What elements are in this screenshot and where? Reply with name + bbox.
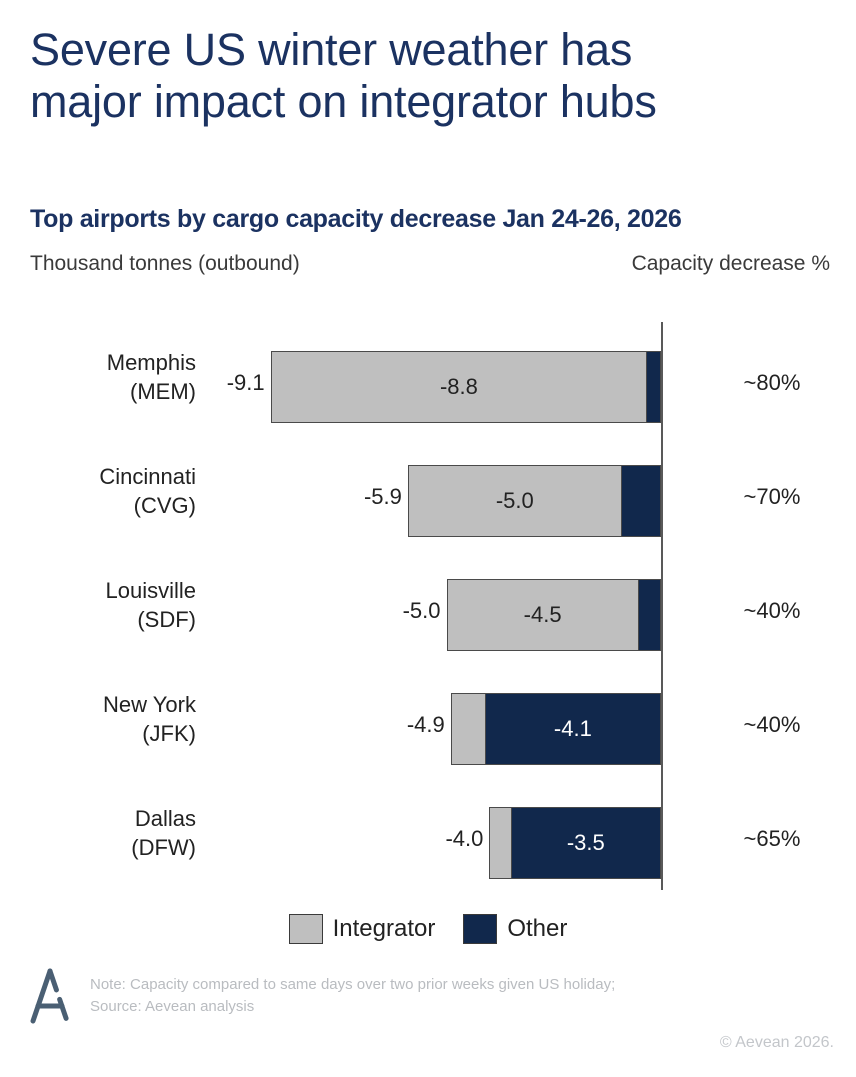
chart-plot-area: Memphis(MEM)-9.1-8.8~80%Cincinnati(CVG)-… [0,322,856,892]
capacity-decrease-pct: ~40% [712,712,832,738]
bar-total-value: -4.9 [407,712,445,738]
aevean-logo-icon [28,968,72,1024]
stacked-bar[interactable]: -3.5 [489,807,661,879]
bar-segment-value: -5.0 [496,488,534,514]
stacked-bar[interactable]: -8.8 [271,351,661,423]
bar-segment-integrator[interactable] [452,694,486,764]
bar-segment-other[interactable] [639,580,660,650]
note-line: Note: Capacity compared to same days ove… [90,974,615,996]
bar-row: Louisville(SDF)-5.0-4.5~40% [0,558,856,672]
stacked-bar[interactable]: -4.1 [451,693,661,765]
bar-row-label: Memphis(MEM) [0,348,196,406]
bar-segment-integrator[interactable]: -4.5 [448,580,639,650]
legend-label: Other [507,915,567,943]
legend-item[interactable]: Integrator [289,914,436,944]
bar-row-code: (CVG) [0,491,196,520]
bar-total-value: -5.0 [403,598,441,624]
right-axis-caption: Capacity decrease % [632,252,830,276]
stacked-bar[interactable]: -5.0 [408,465,661,537]
left-axis-caption: Thousand tonnes (outbound) [30,252,300,276]
legend-swatch-integrator [289,914,323,944]
bar-row-label: Cincinnati(CVG) [0,462,196,520]
bar-segment-value: -4.1 [554,716,592,742]
bar-row-city: New York [0,690,196,719]
capacity-decrease-pct: ~40% [712,598,832,624]
bar-segment-other[interactable]: -4.1 [486,694,660,764]
bar-row-label: Louisville(SDF) [0,576,196,634]
bar-row-code: (JFK) [0,719,196,748]
bar-total-value: -5.9 [364,484,402,510]
capacity-decrease-pct: ~80% [712,370,832,396]
bar-row-code: (MEM) [0,377,196,406]
bar-row-code: (DFW) [0,833,196,862]
bar-segment-value: -8.8 [440,374,478,400]
bar-row-city: Dallas [0,804,196,833]
bar-row-city: Memphis [0,348,196,377]
bar-row-label: Dallas(DFW) [0,804,196,862]
chart-footer: Note: Capacity compared to same days ove… [28,968,828,1024]
bar-row: New York(JFK)-4.9-4.1~40% [0,672,856,786]
page-title: Severe US winter weather has major impac… [30,24,830,128]
axis-captions: Thousand tonnes (outbound) Capacity decr… [30,252,830,276]
bar-segment-value: -4.5 [524,602,562,628]
source-line: Source: Aevean analysis [90,996,615,1018]
bar-row: Cincinnati(CVG)-5.9-5.0~70% [0,444,856,558]
bar-segment-other[interactable]: -3.5 [512,808,660,878]
bar-segment-other[interactable] [647,352,660,422]
bar-segment-other[interactable] [622,466,660,536]
capacity-decrease-pct: ~65% [712,826,832,852]
legend-item[interactable]: Other [463,914,567,944]
bar-segment-value: -3.5 [567,830,605,856]
legend-label: Integrator [333,915,436,943]
legend-swatch-other [463,914,497,944]
bar-row-label: New York(JFK) [0,690,196,748]
chart-legend: IntegratorOther [0,914,856,944]
bar-total-value: -4.0 [445,826,483,852]
capacity-decrease-pct: ~70% [712,484,832,510]
bar-segment-integrator[interactable]: -5.0 [409,466,622,536]
copyright-text: © Aevean 2026. [720,1034,834,1052]
stacked-bar[interactable]: -4.5 [447,579,662,651]
chart-header: Severe US winter weather has major impac… [30,24,830,128]
chart-subtitle: Top airports by cargo capacity decrease … [30,205,830,234]
bar-segment-integrator[interactable]: -8.8 [272,352,648,422]
bar-row-code: (SDF) [0,605,196,634]
bar-row: Dallas(DFW)-4.0-3.5~65% [0,786,856,900]
note-block: Note: Capacity compared to same days ove… [90,968,615,1018]
bar-total-value: -9.1 [227,370,265,396]
bar-row-city: Cincinnati [0,462,196,491]
bar-row: Memphis(MEM)-9.1-8.8~80% [0,330,856,444]
bar-segment-integrator[interactable] [490,808,511,878]
bar-row-city: Louisville [0,576,196,605]
